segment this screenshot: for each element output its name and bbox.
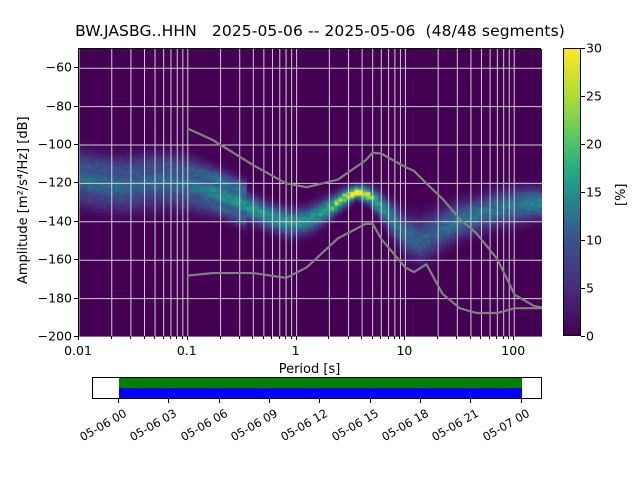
timeline-tick-mark bbox=[118, 399, 119, 403]
x-axis-minor-tick bbox=[388, 336, 389, 339]
colorbar-tick-mark bbox=[581, 336, 585, 337]
ppsd-figure: BW.JASBG..HHN 2025-05-06 -- 2025-05-06 (… bbox=[0, 0, 640, 480]
x-axis-tick-mark bbox=[187, 336, 188, 340]
x-axis-minor-tick bbox=[456, 336, 457, 339]
timeline-tick-mark bbox=[319, 399, 320, 403]
y-axis-tick-label: −200 bbox=[38, 329, 72, 344]
y-axis-tick-label: −60 bbox=[46, 60, 72, 75]
coverage-fill bbox=[119, 378, 522, 398]
x-axis-minor-tick bbox=[130, 336, 131, 339]
noise-model-curve-nlnm bbox=[188, 224, 542, 313]
x-axis-minor-tick bbox=[489, 336, 490, 339]
timeline-tick-mark bbox=[269, 399, 270, 403]
x-axis-minor-tick bbox=[480, 336, 481, 339]
x-axis-minor-tick bbox=[163, 336, 164, 339]
colorbar-tick-label: 0 bbox=[586, 329, 594, 344]
x-axis-tick-label: 10 bbox=[396, 343, 412, 358]
timeline-tick-mark bbox=[168, 399, 169, 403]
figure-title: BW.JASBG..HHN 2025-05-06 -- 2025-05-06 (… bbox=[0, 22, 640, 40]
x-axis-minor-tick bbox=[496, 336, 497, 339]
timeline-tick-mark bbox=[370, 399, 371, 403]
timeline-tick-label: 05-06 18 bbox=[376, 406, 431, 446]
y-axis-tick-label: −160 bbox=[38, 252, 72, 267]
x-axis-minor-tick bbox=[437, 336, 438, 339]
timeline-tick-label: 05-06 03 bbox=[124, 406, 179, 446]
timeline-tick-label: 05-07 00 bbox=[476, 406, 531, 446]
colorbar-tick-label: 10 bbox=[586, 233, 602, 248]
coverage-segment-top bbox=[119, 378, 522, 388]
x-axis-minor-tick bbox=[252, 336, 253, 339]
x-axis-minor-tick bbox=[279, 336, 280, 339]
colorbar-tick-mark bbox=[581, 48, 585, 49]
colorbar-label: [%] bbox=[614, 184, 629, 207]
y-axis-tick-mark bbox=[74, 259, 78, 260]
plot-grid-and-noise-models bbox=[79, 49, 542, 337]
x-axis-minor-tick bbox=[144, 336, 145, 339]
x-axis-minor-tick bbox=[503, 336, 504, 339]
x-axis-label: Period [s] bbox=[250, 362, 370, 377]
data-coverage-bar[interactable] bbox=[92, 377, 542, 399]
coverage-segment-bottom bbox=[119, 388, 522, 398]
ppsd-plot-area[interactable] bbox=[78, 48, 541, 336]
x-axis-minor-tick bbox=[361, 336, 362, 339]
x-axis-minor-tick bbox=[328, 336, 329, 339]
x-axis-minor-tick bbox=[348, 336, 349, 339]
x-axis-tick-label: 0.1 bbox=[177, 343, 197, 358]
x-axis-minor-tick bbox=[508, 336, 509, 339]
colorbar-tick-label: 5 bbox=[586, 281, 594, 296]
colorbar-tick-mark bbox=[581, 192, 585, 193]
x-axis-minor-tick bbox=[470, 336, 471, 339]
x-axis-tick-label: 100 bbox=[501, 343, 525, 358]
x-axis-minor-tick bbox=[111, 336, 112, 339]
x-axis-minor-tick bbox=[220, 336, 221, 339]
y-axis-label: Amplitude [m²/s⁴/Hz] [dB] bbox=[16, 116, 31, 284]
x-axis-minor-tick bbox=[263, 336, 264, 339]
x-axis-tick-mark bbox=[404, 336, 405, 340]
x-axis-minor-tick bbox=[182, 336, 183, 339]
y-axis-tick-label: −80 bbox=[46, 98, 72, 113]
x-axis-minor-tick bbox=[271, 336, 272, 339]
colorbar-tick-label: 30 bbox=[586, 41, 602, 56]
x-axis-minor-tick bbox=[176, 336, 177, 339]
colorbar-tick-label: 25 bbox=[586, 89, 602, 104]
x-axis-minor-tick bbox=[170, 336, 171, 339]
x-axis-tick-mark bbox=[513, 336, 514, 340]
x-axis-tick-mark bbox=[78, 336, 79, 340]
x-axis-minor-tick bbox=[239, 336, 240, 339]
y-axis-tick-label: −100 bbox=[38, 137, 72, 152]
noise-model-curve-nhnm bbox=[188, 129, 542, 308]
y-axis-tick-mark bbox=[74, 144, 78, 145]
x-axis-minor-tick bbox=[394, 336, 395, 339]
x-axis-tick-label: 0.01 bbox=[64, 343, 92, 358]
timeline-tick-label: 05-06 21 bbox=[426, 406, 481, 446]
x-axis-minor-tick bbox=[380, 336, 381, 339]
y-axis-tick-label: −120 bbox=[38, 175, 72, 190]
y-axis-tick-mark bbox=[74, 221, 78, 222]
colorbar bbox=[563, 48, 581, 336]
y-axis-tick-mark bbox=[74, 106, 78, 107]
x-axis-tick-mark bbox=[296, 336, 297, 340]
y-axis-tick-mark bbox=[74, 182, 78, 183]
timeline-tick-mark bbox=[219, 399, 220, 403]
x-axis-minor-tick bbox=[291, 336, 292, 339]
timeline-tick-label: 05-06 00 bbox=[74, 406, 129, 446]
colorbar-tick-mark bbox=[581, 144, 585, 145]
colorbar-tick-mark bbox=[581, 288, 585, 289]
timeline-tick-label: 05-06 15 bbox=[325, 406, 380, 446]
x-axis-tick-label: 1 bbox=[292, 343, 300, 358]
timeline-tick-mark bbox=[521, 399, 522, 403]
y-axis-tick-mark bbox=[74, 67, 78, 68]
x-axis-minor-tick bbox=[372, 336, 373, 339]
y-axis-tick-mark bbox=[74, 298, 78, 299]
colorbar-tick-mark bbox=[581, 240, 585, 241]
timeline-tick-mark bbox=[420, 399, 421, 403]
y-axis-tick-label: −140 bbox=[38, 213, 72, 228]
x-axis-minor-tick bbox=[154, 336, 155, 339]
colorbar-tick-label: 15 bbox=[586, 185, 602, 200]
timeline-tick-label: 05-06 06 bbox=[174, 406, 229, 446]
timeline-tick-label: 05-06 12 bbox=[275, 406, 330, 446]
colorbar-tick-mark bbox=[581, 96, 585, 97]
timeline-tick-label: 05-06 09 bbox=[225, 406, 280, 446]
colorbar-tick-label: 20 bbox=[586, 137, 602, 152]
x-axis-minor-tick bbox=[399, 336, 400, 339]
timeline-tick-mark bbox=[470, 399, 471, 403]
x-axis-minor-tick bbox=[285, 336, 286, 339]
y-axis-tick-label: −180 bbox=[38, 290, 72, 305]
